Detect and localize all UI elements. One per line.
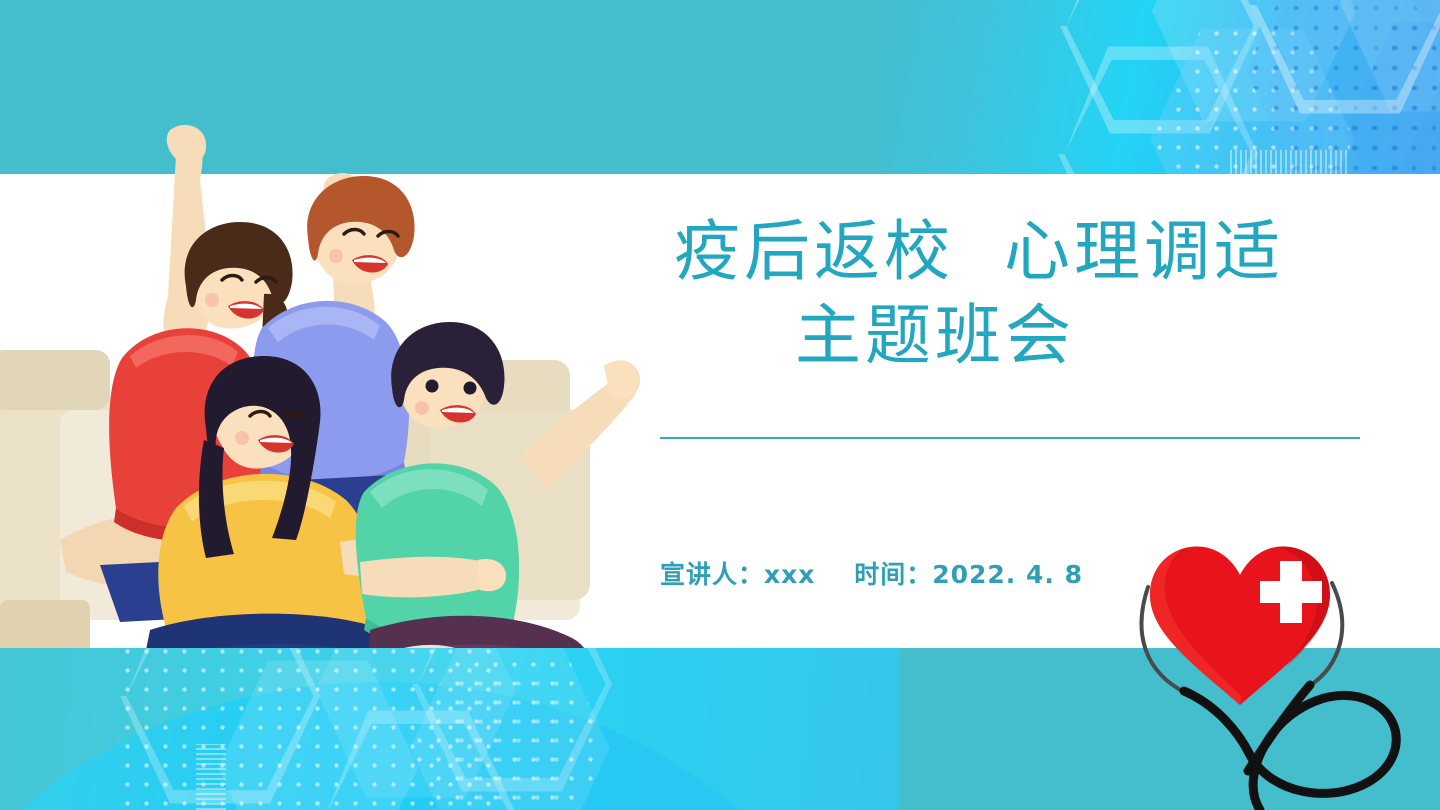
title-block: 疫后返校 心理调适 主题班会 [660,210,1370,378]
students-illustration [0,110,660,670]
stripe-pattern [1230,150,1350,174]
title-divider [660,437,1360,439]
health-icon-group [1120,505,1440,810]
slide-title-line-2: 主题班会 [660,294,1370,378]
stripe-pattern [196,744,226,810]
dot-pattern [452,674,572,810]
figure-boy-green [356,322,640,670]
presentation-slide: 疫后返校 心理调适 主题班会 宣讲人：xxx 时间：2022. 4. 8 [0,0,1440,810]
dot-pattern [118,648,498,810]
stethoscope-icon [1184,685,1396,810]
heart-icon [1150,546,1330,705]
slide-title-line-1: 疫后返校 心理调适 [660,210,1370,294]
byline-text: 宣讲人：xxx 时间：2022. 4. 8 [660,555,1083,591]
